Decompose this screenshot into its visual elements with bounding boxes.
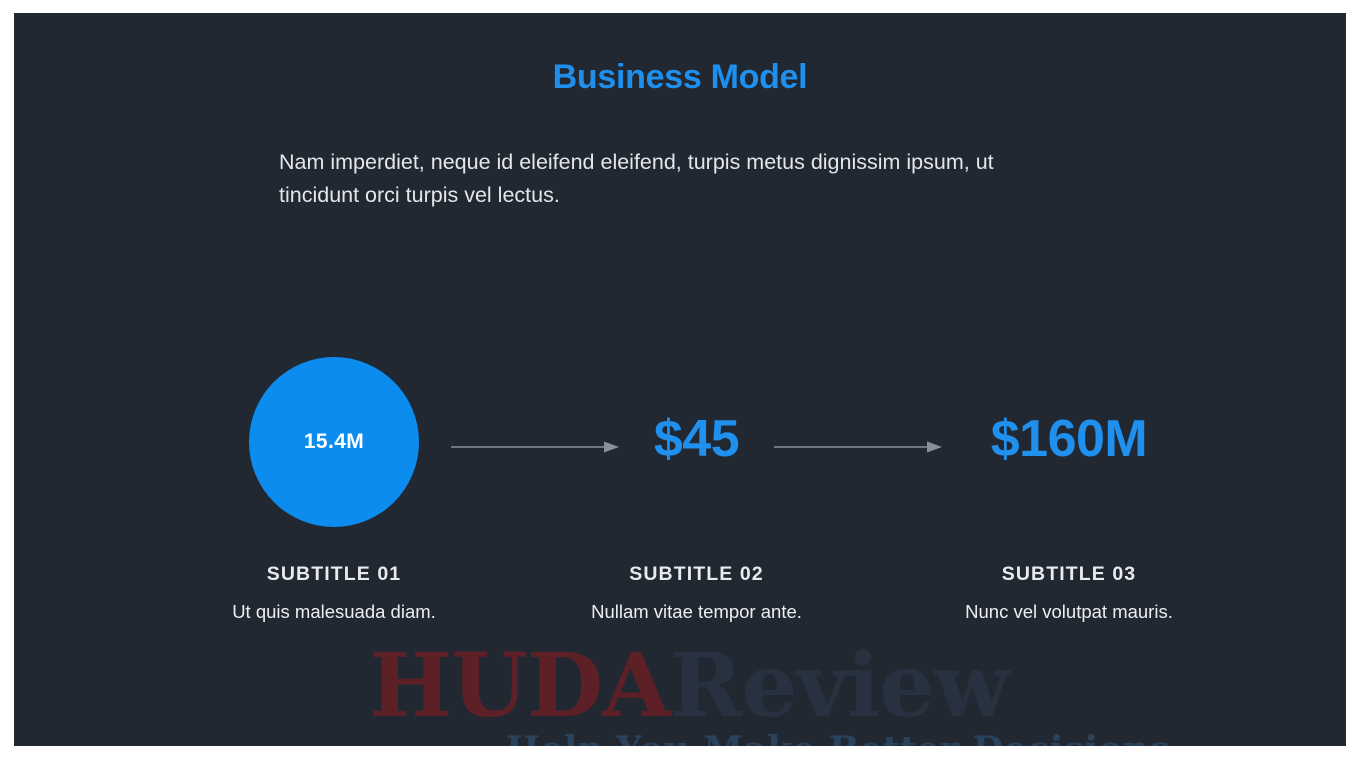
caption-block-2: SUBTITLE 02 Nullam vitae tempor ante.	[574, 563, 819, 626]
business-model-flow: 15.4M $45 $160M	[14, 343, 1346, 553]
metric-value-2: $45	[574, 413, 819, 465]
metric-circle-1: 15.4M	[249, 357, 419, 527]
watermark-tagline: Help You Make Better Decisions	[506, 729, 1170, 746]
caption-block-3: SUBTITLE 03 Nunc vel volutpat mauris.	[944, 563, 1194, 626]
metric-value-1: 15.4M	[304, 430, 364, 454]
caption-desc-3: Nunc vel volutpat mauris.	[944, 599, 1194, 626]
slide-canvas: Business Model Nam imperdiet, neque id e…	[14, 13, 1346, 746]
slide-description: Nam imperdiet, neque id eleifend eleifen…	[279, 146, 1069, 211]
flow-captions: SUBTITLE 01 Ut quis malesuada diam. SUBT…	[14, 563, 1346, 673]
caption-title-1: SUBTITLE 01	[204, 563, 464, 586]
caption-block-1: SUBTITLE 01 Ut quis malesuada diam.	[204, 563, 464, 626]
flow-step-1: 15.4M	[204, 343, 464, 553]
caption-title-3: SUBTITLE 03	[944, 563, 1194, 586]
page-title: Business Model	[14, 58, 1346, 97]
caption-desc-2: Nullam vitae tempor ante.	[574, 599, 819, 626]
metric-value-3: $160M	[944, 413, 1194, 465]
caption-desc-1: Ut quis malesuada diam.	[204, 599, 464, 626]
arrow-right-icon-1	[451, 440, 619, 454]
arrow-right-icon-2	[774, 440, 942, 454]
flow-step-3: $160M	[944, 343, 1194, 553]
caption-title-2: SUBTITLE 02	[574, 563, 819, 586]
